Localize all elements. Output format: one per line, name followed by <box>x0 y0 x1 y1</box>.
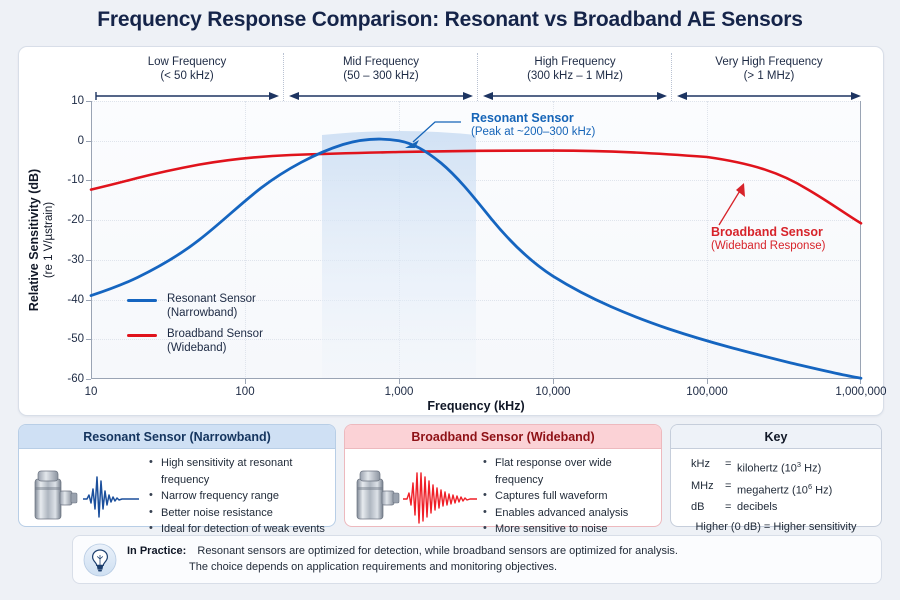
list-item: Better noise resistance <box>149 505 327 522</box>
band-header-high: High Frequency (300 kHz – 1 MHz) <box>479 55 671 83</box>
legend-label: Resonant Sensor <box>167 293 256 307</box>
in-practice-label: In Practice: <box>127 545 186 557</box>
x-tick-label: 1,000 <box>385 386 414 398</box>
band-arrow-high <box>483 91 667 101</box>
key-row: dB = decibels <box>671 499 881 516</box>
x-tick-label: 100,000 <box>686 386 728 398</box>
legend-label: Broadband Sensor <box>167 328 263 342</box>
broadband-callout-sub: (Wideband Response) <box>711 240 825 252</box>
chart-legend: Resonant Sensor (Narrowband) Broadband S… <box>127 293 263 363</box>
in-practice-banner: In Practice: Resonant sensors are optimi… <box>72 535 882 584</box>
y-tick-label: -60 <box>67 373 84 385</box>
key-term: kHz <box>691 456 725 478</box>
panel-key-heading: Key <box>671 425 881 449</box>
band-arrow-low <box>95 91 279 101</box>
list-item: Captures full waveform <box>483 488 653 505</box>
band-name: Mid Frequency <box>285 55 477 69</box>
legend-swatch-resonant <box>127 299 157 302</box>
legend-item-resonant: Resonant Sensor (Narrowband) <box>127 293 263 320</box>
y-axis-label-main: Relative Sensitivity (dB) <box>27 169 41 311</box>
legend-sublabel: (Narrowband) <box>167 307 256 321</box>
legend-sublabel: (Wideband) <box>167 342 263 356</box>
key-term: MHz <box>691 478 725 500</box>
panel-resonant-sensor: Resonant Sensor (Narrowband) <box>18 424 336 527</box>
x-tick-mark <box>860 379 861 384</box>
band-arrow-mid <box>289 91 473 101</box>
resonant-callout-arrow <box>343 116 463 166</box>
key-equals: = <box>725 456 737 478</box>
key-term: dB <box>691 499 725 516</box>
list-item: Flat response over wide frequency <box>483 455 653 488</box>
key-note: Higher (0 dB) = Higher sensitivity <box>671 516 881 536</box>
x-tick-label: 10 <box>85 386 98 398</box>
y-tick-label: 10 <box>71 95 84 107</box>
x-tick-label: 10,000 <box>535 386 570 398</box>
lightbulb-icon <box>83 543 117 577</box>
y-tick-label: -50 <box>67 333 84 345</box>
band-header-very-high: Very High Frequency (> 1 MHz) <box>673 55 865 83</box>
legend-item-broadband: Broadband Sensor (Wideband) <box>127 328 263 355</box>
key-row: MHz = megahertz (106 Hz) <box>671 478 881 500</box>
key-definition: kilohertz (103 Hz) <box>737 456 821 478</box>
band-header-mid: Mid Frequency (50 – 300 kHz) <box>285 55 477 83</box>
x-tick-mark <box>245 379 246 384</box>
plot-area: 10 0 -10 -20 -30 -40 -50 -60 10 100 1,00… <box>91 101 861 379</box>
band-range: (> 1 MHz) <box>673 69 865 83</box>
key-definition: decibels <box>737 499 777 516</box>
band-name: Very High Frequency <box>673 55 865 69</box>
key-equals: = <box>725 478 737 500</box>
band-header-low: Low Frequency (< 50 kHz) <box>91 55 283 83</box>
x-tick-label: 100 <box>235 386 254 398</box>
resonant-sensor-icon <box>27 465 145 527</box>
resonant-callout: Resonant Sensor (Peak at ~200–300 kHz) <box>471 111 595 139</box>
panel-broadband-sensor: Broadband Sensor (Wideband) <box>344 424 662 527</box>
x-tick-mark <box>553 379 554 384</box>
y-tick-label: -10 <box>67 174 84 186</box>
broadband-sensor-icon <box>353 465 481 527</box>
key-definition-list: kHz = kilohertz (103 Hz) MHz = megahertz… <box>671 449 881 536</box>
band-range: (< 50 kHz) <box>91 69 283 83</box>
list-item: High sensitivity at resonant frequency <box>149 455 327 488</box>
broadband-callout-arrow <box>709 181 759 227</box>
y-tick-label: -30 <box>67 254 84 266</box>
panel-broadband-heading: Broadband Sensor (Wideband) <box>345 425 661 449</box>
panel-resonant-heading: Resonant Sensor (Narrowband) <box>19 425 335 449</box>
x-tick-label: 1,000,000 <box>835 386 886 398</box>
resonant-callout-sub: (Peak at ~200–300 kHz) <box>471 126 595 138</box>
band-name: High Frequency <box>479 55 671 69</box>
broadband-bullet-list: Flat response over wide frequency Captur… <box>483 455 653 538</box>
resonant-bullet-list: High sensitivity at resonant frequency N… <box>149 455 327 538</box>
y-axis-label: Relative Sensitivity (dB) (re 1 V/µstrai… <box>31 101 53 379</box>
key-equals: = <box>725 499 737 516</box>
y-tick-label: 0 <box>78 135 84 147</box>
panel-key: Key kHz = kilohertz (103 Hz) MHz = megah… <box>670 424 882 527</box>
page-title: Frequency Response Comparison: Resonant … <box>0 8 900 32</box>
y-tick-label: -20 <box>67 214 84 226</box>
band-name: Low Frequency <box>91 55 283 69</box>
list-item: Enables advanced analysis <box>483 505 653 522</box>
chart-card: Low Frequency (< 50 kHz) Mid Frequency (… <box>18 46 884 416</box>
resonant-callout-title: Resonant Sensor <box>471 111 595 125</box>
y-tick-label: -40 <box>67 294 84 306</box>
in-practice-line-2: The choice depends on application requir… <box>127 560 678 576</box>
x-tick-mark <box>707 379 708 384</box>
x-axis-label: Frequency (kHz) <box>91 399 861 413</box>
band-range: (50 – 300 kHz) <box>285 69 477 83</box>
broadband-callout: Broadband Sensor (Wideband Response) <box>711 225 825 253</box>
list-item: Narrow frequency range <box>149 488 327 505</box>
band-arrow-very-high <box>677 91 861 101</box>
key-definition: megahertz (106 Hz) <box>737 478 832 500</box>
legend-swatch-broadband <box>127 334 157 337</box>
infographic-root: Frequency Response Comparison: Resonant … <box>0 0 900 600</box>
key-row: kHz = kilohertz (103 Hz) <box>671 456 881 478</box>
band-range: (300 kHz – 1 MHz) <box>479 69 671 83</box>
x-tick-mark <box>399 379 400 384</box>
broadband-callout-title: Broadband Sensor <box>711 225 825 239</box>
y-axis-label-sub: (re 1 V/µstrain) <box>42 169 57 311</box>
in-practice-line-1: Resonant sensors are optimized for detec… <box>197 545 678 557</box>
